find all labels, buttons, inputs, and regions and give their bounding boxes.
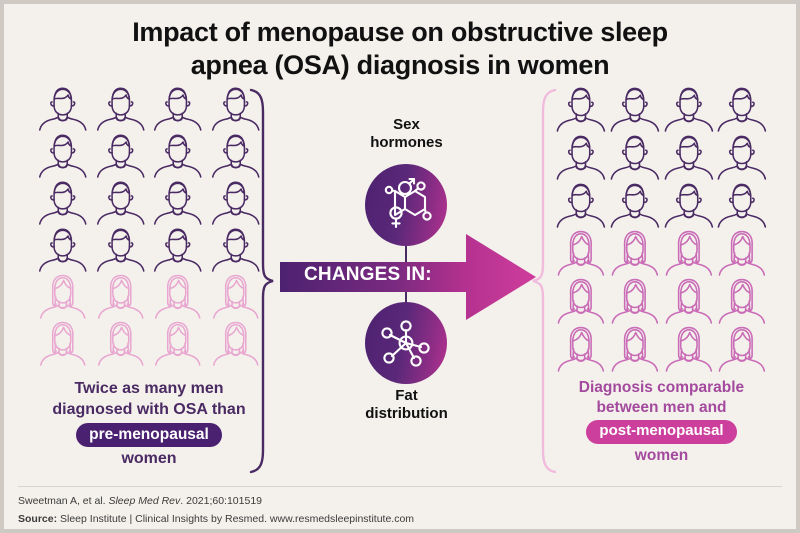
woman-icon	[554, 324, 608, 372]
person-man	[34, 131, 92, 178]
man-icon	[554, 180, 608, 228]
man-icon	[608, 84, 662, 132]
man-icon	[34, 225, 92, 272]
woman-icon	[608, 276, 662, 324]
person-woman	[92, 319, 150, 366]
man-icon	[715, 180, 769, 228]
sex-hormones-label: Sex hormones	[334, 116, 479, 153]
right-caption-line-3: women	[549, 446, 774, 466]
woman-icon	[608, 324, 662, 372]
man-icon	[715, 132, 769, 180]
person-woman	[34, 272, 92, 319]
right-caption-line-1: Diagnosis comparable	[549, 378, 774, 398]
fat-distribution-label-line-1: Fat	[395, 387, 418, 404]
person-woman	[92, 272, 150, 319]
sex-hormones-label-line-1: Sex	[393, 116, 420, 133]
man-icon	[554, 132, 608, 180]
man-icon	[715, 84, 769, 132]
person-man	[92, 178, 150, 225]
left-caption-line-2: diagnosed with OSA than	[24, 400, 274, 421]
left-population-group	[34, 84, 264, 366]
left-caption-line-1: Twice as many men	[24, 379, 274, 400]
man-icon	[554, 84, 608, 132]
person-man	[662, 84, 716, 132]
person-man	[34, 178, 92, 225]
man-icon	[92, 225, 150, 272]
person-man	[92, 84, 150, 131]
woman-icon	[92, 319, 150, 366]
fat-distribution-circle	[365, 302, 447, 384]
person-man	[715, 132, 769, 180]
page-title: Impact of menopause on obstructive sleep…	[4, 16, 796, 82]
title-line-1: Impact of menopause on obstructive sleep	[132, 17, 668, 47]
title-line-2: apnea (OSA) diagnosis in women	[4, 49, 796, 82]
man-icon	[149, 178, 207, 225]
man-icon	[608, 132, 662, 180]
person-man	[92, 225, 150, 272]
pre-menopausal-badge: pre-menopausal	[76, 423, 222, 447]
person-man	[662, 132, 716, 180]
right-caption: Diagnosis comparable between men and pos…	[549, 378, 774, 466]
person-man	[149, 84, 207, 131]
right-caption-line-2: between men and	[549, 398, 774, 418]
source-line: Source: Sleep Institute | Clinical Insig…	[18, 510, 782, 528]
post-menopausal-badge: post-menopausal	[586, 420, 736, 444]
reference-line: Sweetman A, et al. Sleep Med Rev. 2021;6…	[18, 492, 782, 510]
person-man	[34, 84, 92, 131]
man-icon	[92, 131, 150, 178]
person-man	[554, 84, 608, 132]
person-woman	[608, 228, 662, 276]
person-woman	[608, 276, 662, 324]
infographic-canvas: Impact of menopause on obstructive sleep…	[4, 4, 796, 529]
source-label: Source:	[18, 513, 57, 525]
person-woman	[554, 228, 608, 276]
person-man	[608, 180, 662, 228]
person-man	[715, 180, 769, 228]
person-woman	[554, 276, 608, 324]
person-woman	[554, 324, 608, 372]
person-man	[34, 225, 92, 272]
man-icon	[149, 225, 207, 272]
woman-icon	[149, 319, 207, 366]
woman-icon	[662, 324, 716, 372]
person-man	[149, 131, 207, 178]
man-icon	[149, 84, 207, 131]
man-icon	[662, 180, 716, 228]
reference-authors: Sweetman A, et al.	[18, 495, 108, 507]
fat-molecule-icon	[365, 302, 447, 384]
person-man	[554, 180, 608, 228]
woman-icon	[662, 276, 716, 324]
person-man	[92, 131, 150, 178]
person-woman	[149, 272, 207, 319]
footer-divider	[18, 486, 782, 487]
woman-icon	[608, 228, 662, 276]
person-woman	[715, 324, 769, 372]
man-icon	[149, 131, 207, 178]
right-people-grid	[554, 84, 769, 372]
woman-icon	[662, 228, 716, 276]
woman-icon	[554, 276, 608, 324]
man-icon	[34, 84, 92, 131]
sex-hormones-label-line-2: hormones	[370, 134, 443, 151]
source-text: Sleep Institute | Clinical Insights by R…	[57, 513, 414, 525]
footer: Sweetman A, et al. Sleep Med Rev. 2021;6…	[18, 492, 782, 528]
person-woman	[34, 319, 92, 366]
reference-citation: . 2021;60:101519	[180, 495, 262, 507]
person-woman	[662, 228, 716, 276]
reference-journal: Sleep Med Rev	[108, 495, 180, 507]
person-man	[608, 132, 662, 180]
woman-icon	[92, 272, 150, 319]
fat-distribution-label: Fat distribution	[334, 387, 479, 424]
person-woman	[662, 324, 716, 372]
man-icon	[34, 178, 92, 225]
woman-icon	[715, 324, 769, 372]
person-woman	[662, 276, 716, 324]
person-woman	[715, 276, 769, 324]
person-man	[149, 225, 207, 272]
woman-icon	[34, 272, 92, 319]
man-icon	[608, 180, 662, 228]
woman-icon	[149, 272, 207, 319]
man-icon	[92, 178, 150, 225]
right-population-group	[554, 84, 769, 372]
person-man	[149, 178, 207, 225]
man-icon	[662, 84, 716, 132]
woman-icon	[554, 228, 608, 276]
man-icon	[34, 131, 92, 178]
man-icon	[662, 132, 716, 180]
person-man	[608, 84, 662, 132]
woman-icon	[715, 228, 769, 276]
left-caption: Twice as many men diagnosed with OSA tha…	[24, 379, 274, 470]
woman-icon	[34, 319, 92, 366]
man-icon	[92, 84, 150, 131]
person-man	[715, 84, 769, 132]
person-woman	[149, 319, 207, 366]
person-man	[662, 180, 716, 228]
person-woman	[608, 324, 662, 372]
person-woman	[715, 228, 769, 276]
left-caption-line-3: women	[24, 449, 274, 470]
woman-icon	[715, 276, 769, 324]
left-people-grid	[34, 84, 264, 366]
fat-distribution-label-line-2: distribution	[365, 405, 448, 422]
person-man	[554, 132, 608, 180]
arrow-label: CHANGES IN:	[304, 264, 504, 286]
